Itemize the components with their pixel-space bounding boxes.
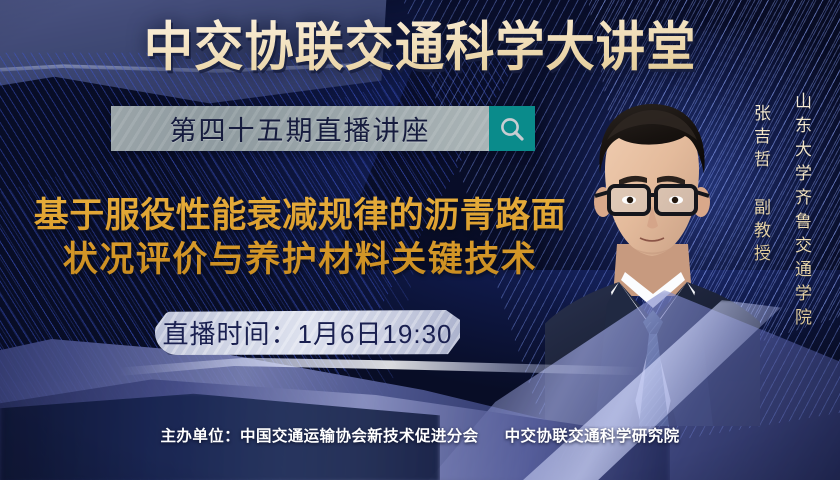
- speaker-credits: 张吉哲 副教授 山东大学齐鲁交通学院: [748, 92, 814, 332]
- broadcast-time-badge: 直播时间：1月6日19:30: [155, 310, 460, 355]
- page-title: 中交协联交通科学大讲堂: [29, 18, 810, 78]
- organizer-name-1: 中国交通运输协会新技术促进分会: [240, 428, 479, 445]
- broadcast-time-text: 直播时间：1月6日19:30: [163, 314, 453, 351]
- episode-label: 第四十五期直播讲座: [170, 109, 431, 148]
- episode-banner: 第四十五期直播讲座: [111, 106, 535, 151]
- lecture-title-line1: 基于服役性能衰减规律的沥青路面: [34, 196, 567, 235]
- episode-banner-body: 第四十五期直播讲座: [111, 106, 489, 151]
- speaker-affiliation: 山东大学齐鲁交通学院: [789, 92, 814, 332]
- speaker-name-title: 张吉哲 副教授: [748, 92, 773, 267]
- organizer-name-2: 中交协联交通科学研究院: [505, 428, 680, 445]
- poster-canvas: 中交协联交通科学大讲堂 第四十五期直播讲座 基于服役性能衰减规律的沥青路面 状况…: [0, 0, 840, 480]
- search-button[interactable]: [489, 106, 535, 151]
- organizer-footer: 主办单位：中国交通运输协会新技术促进分会中交协联交通科学研究院: [0, 424, 840, 446]
- lecture-title: 基于服役性能衰减规律的沥青路面 状况评价与养护材料关键技术: [0, 194, 600, 282]
- organizer-label: 主办单位：: [161, 428, 241, 445]
- search-icon: [498, 115, 526, 143]
- lecture-title-line2: 状况评价与养护材料关键技术: [0, 238, 600, 282]
